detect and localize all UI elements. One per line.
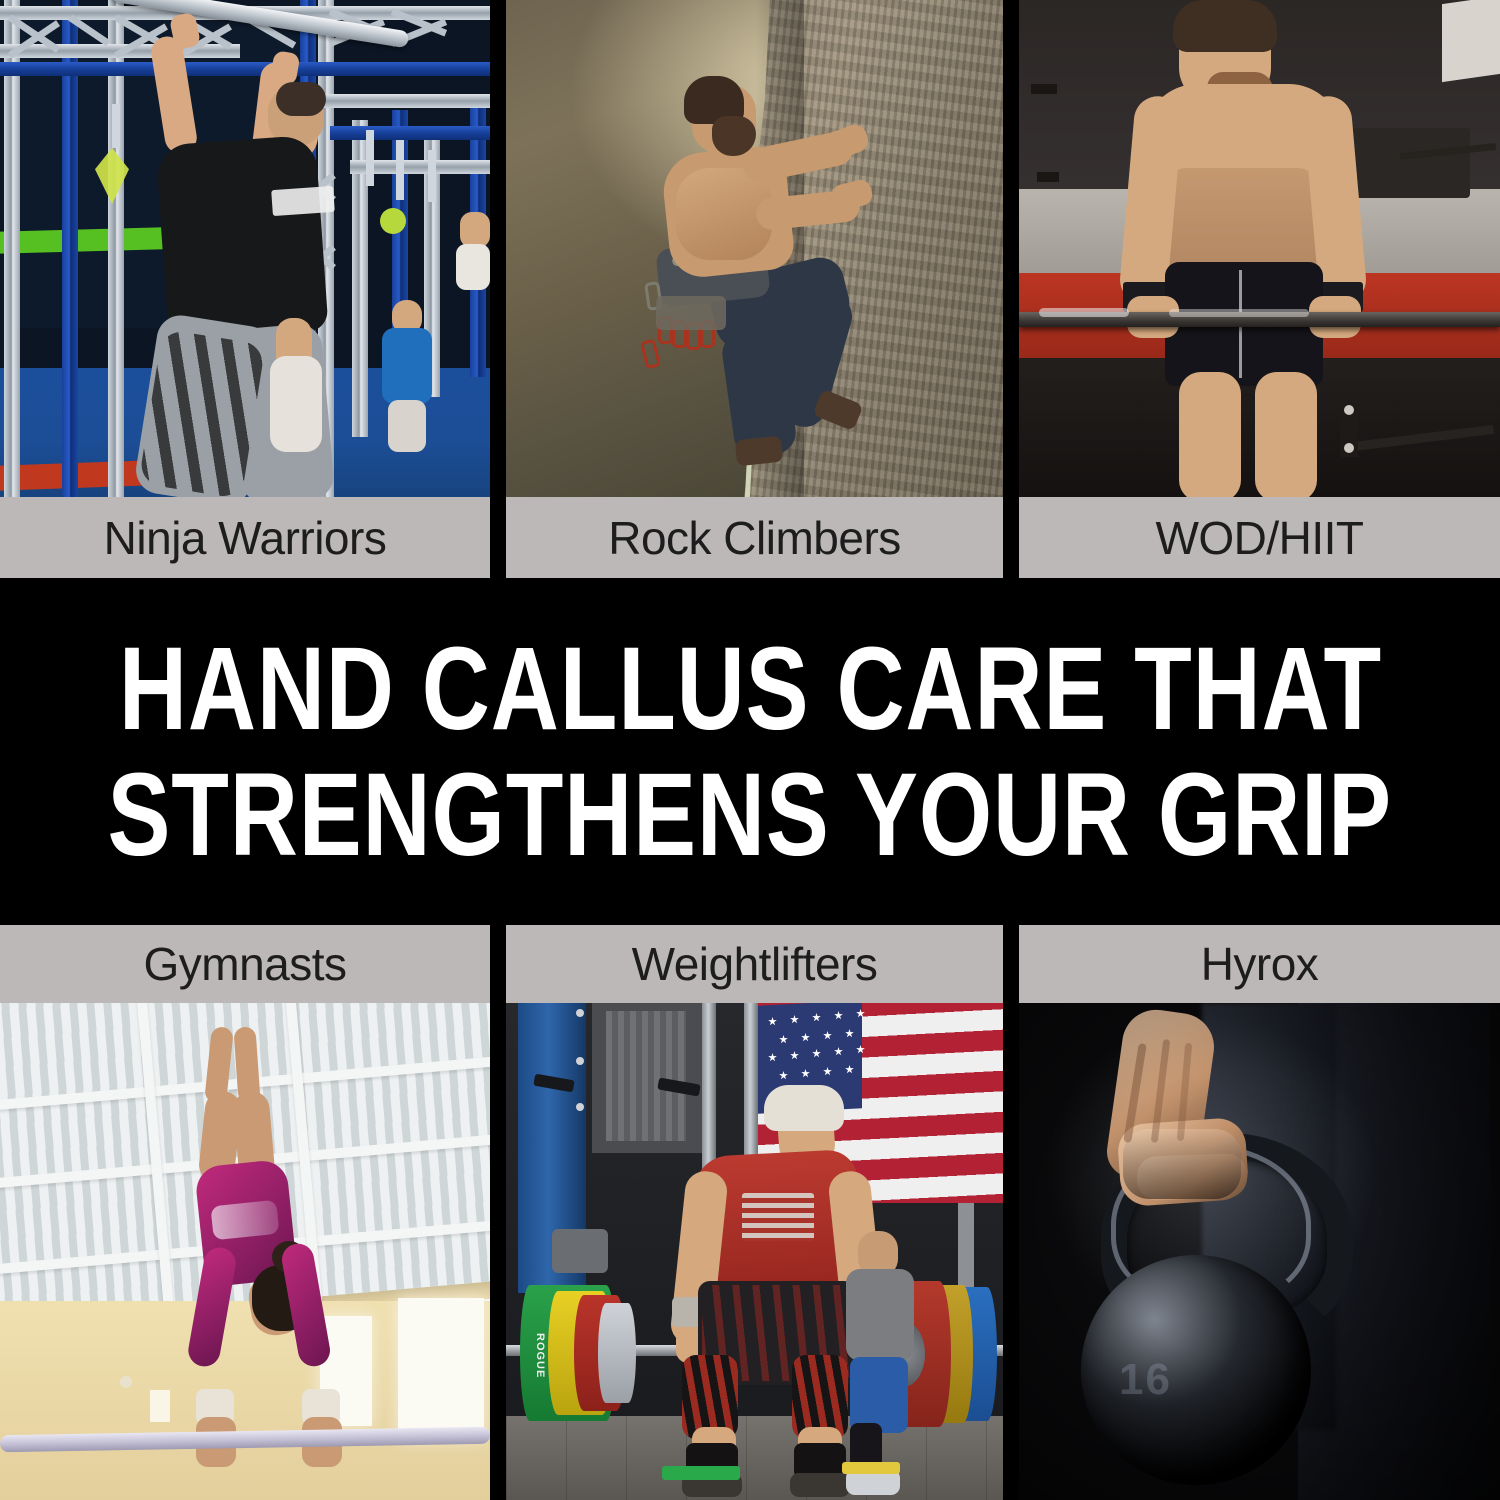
caption-label: WOD/HIIT: [1155, 511, 1363, 565]
caption-label: Gymnasts: [143, 937, 346, 991]
photo-rock-climbers: [506, 0, 1003, 497]
caption-ninja-warriors: Ninja Warriors: [0, 497, 490, 578]
caption-gymnasts: Gymnasts: [0, 925, 490, 1003]
photo-gymnasts: [0, 1003, 490, 1500]
photo-hyrox: 16: [1019, 1003, 1500, 1500]
caption-label: Ninja Warriors: [104, 511, 387, 565]
caption-weightlifters: Weightlifters: [506, 925, 1003, 1003]
photo-ninja-warriors: [0, 0, 490, 497]
headline-line-2: STRENGTHENS YOUR GRIP: [108, 752, 1392, 878]
caption-wod-hiit: WOD/HIIT: [1019, 497, 1500, 578]
caption-hyrox: Hyrox: [1019, 925, 1500, 1003]
headline-band: HAND CALLUS CARE THAT STRENGTHENS YOUR G…: [0, 578, 1500, 925]
caption-label: Weightlifters: [632, 937, 878, 991]
photo-weightlifters: ROGUE ROGUE: [506, 1003, 1003, 1500]
photo-wod-hiit: [1019, 0, 1500, 497]
caption-label: Rock Climbers: [608, 511, 901, 565]
caption-rock-climbers: Rock Climbers: [506, 497, 1003, 578]
headline-line-1: HAND CALLUS CARE THAT: [118, 626, 1381, 752]
product-feature-graphic: Ninja Warriors Rock Climbers WOD/HIIT HA…: [0, 0, 1500, 1500]
caption-label: Hyrox: [1201, 937, 1319, 991]
